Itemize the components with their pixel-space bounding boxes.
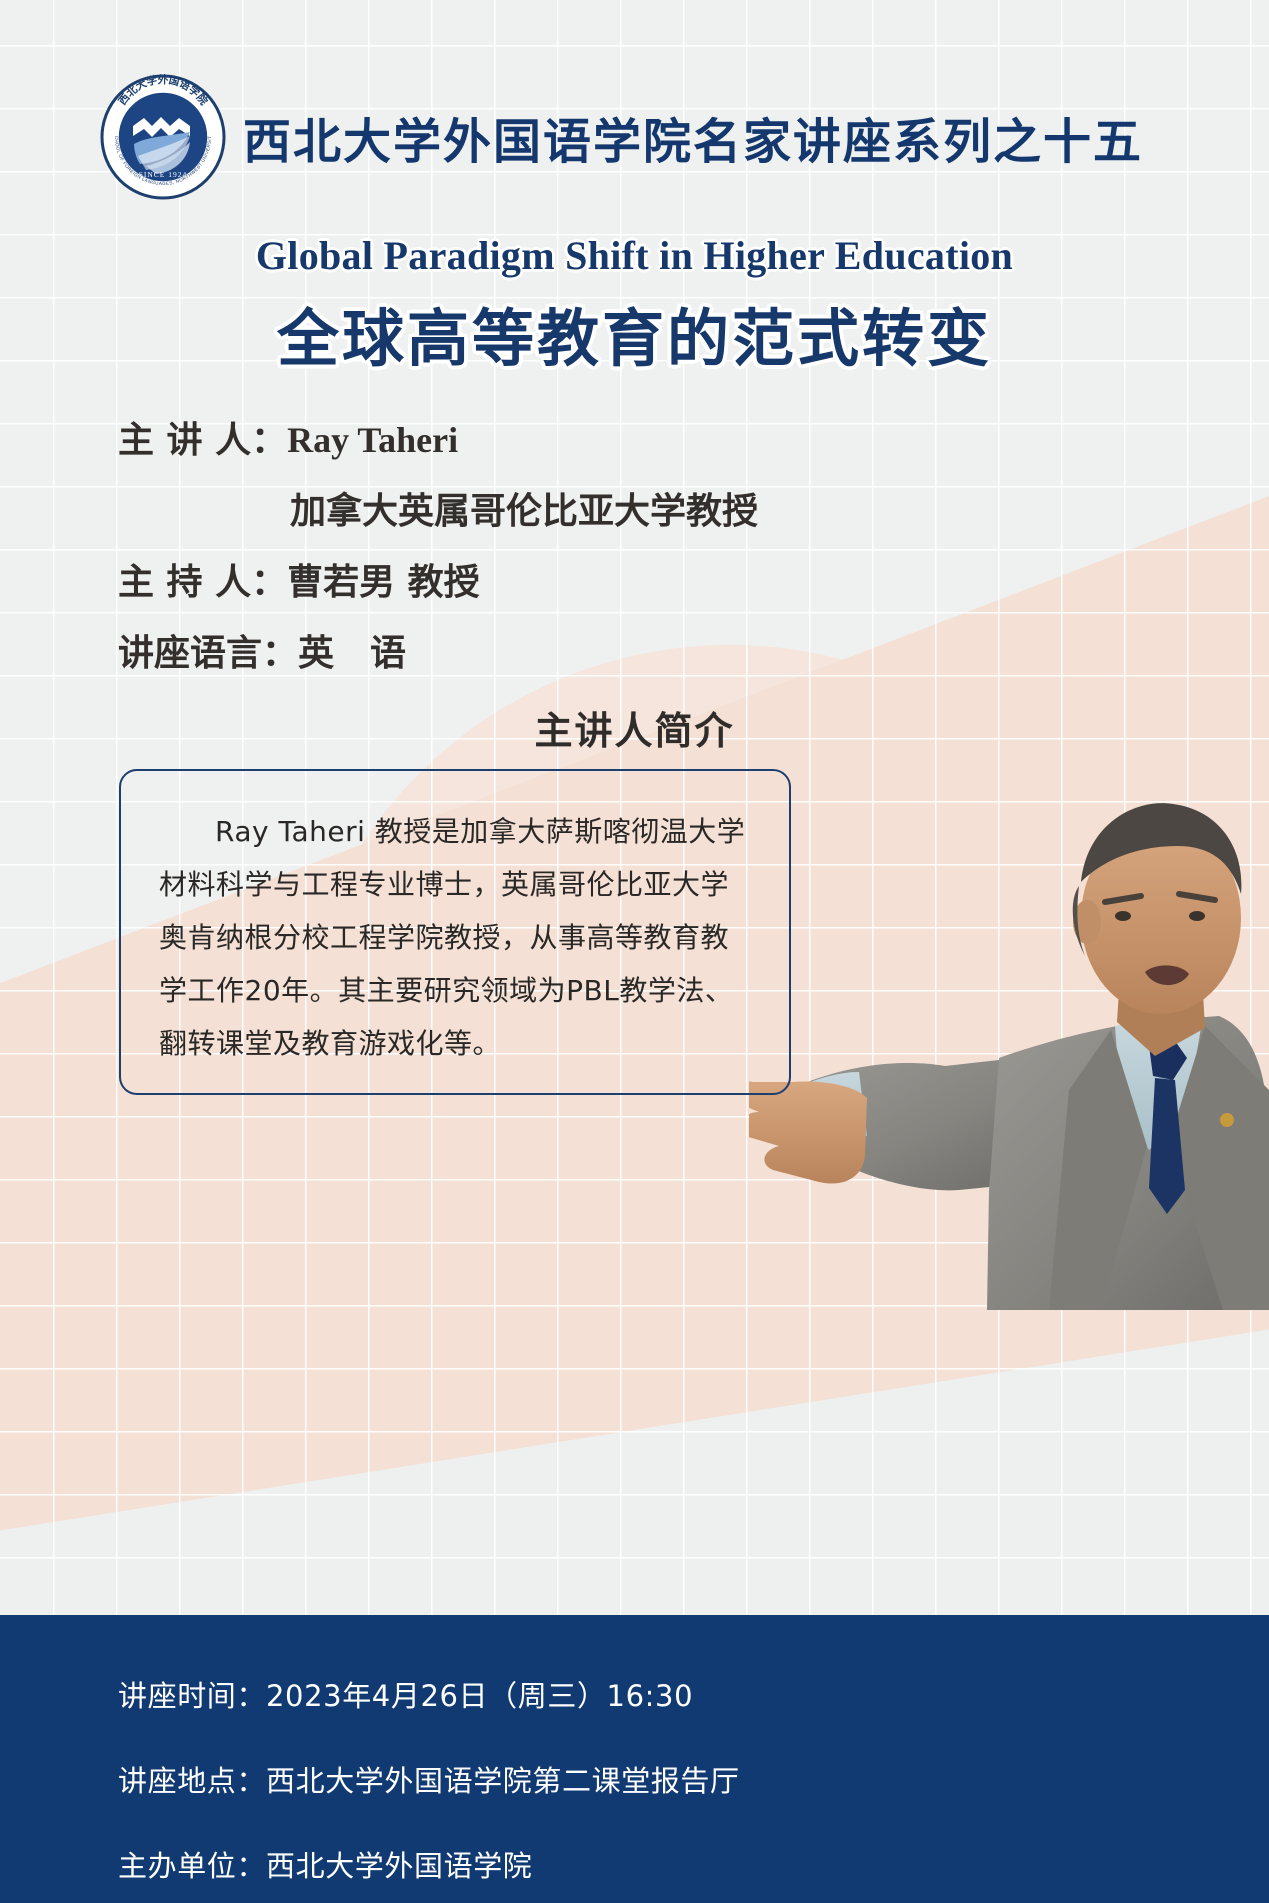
speaker-portrait-illustration <box>749 790 1269 1310</box>
speaker-portrait <box>749 790 1269 1310</box>
bio-section-heading: 主讲人简介 <box>0 700 1269 755</box>
university-logo-icon: SINCE 1924 西北大学外国语学院 SCHOOL OF FOREIGN L… <box>100 74 226 200</box>
speaker-row: 主 讲 人：Ray Taheri <box>118 418 1118 463</box>
footer-time: 讲座时间：2023年4月26日（周三）16:30 <box>118 1673 1269 1715</box>
lecture-info-block: 主 讲 人：Ray Taheri 加拿大英属哥伦比亚大学教授 主 持 人：曹若男… <box>118 418 1118 702</box>
lecture-title-english: Global Paradigm Shift in Higher Educatio… <box>0 232 1269 279</box>
language-value: 英 语 <box>298 633 406 674</box>
bio-paragraph: Ray Taheri 教授是加拿大萨斯喀彻温大学材料科学与工程专业博士，英属哥伦… <box>159 805 749 1070</box>
poster-series-title: 西北大学外国语学院名家讲座系列之十五 <box>243 102 1143 172</box>
speaker-label: 主 讲 人： <box>118 420 287 461</box>
footer-organizer: 主办单位：西北大学外国语学院 <box>118 1843 1269 1885</box>
host-label: 主 持 人： <box>118 562 287 603</box>
speaker-name: Ray Taheri <box>287 420 458 460</box>
bio-text-box: Ray Taheri 教授是加拿大萨斯喀彻温大学材料科学与工程专业博士，英属哥伦… <box>119 769 791 1095</box>
speaker-affiliation-row: 加拿大英属哥伦比亚大学教授 <box>118 489 1118 534</box>
host-name: 曹若男 教授 <box>287 562 480 603</box>
lecture-title-chinese: 全球高等教育的范式转变 <box>0 288 1269 378</box>
poster-canvas: SINCE 1924 西北大学外国语学院 SCHOOL OF FOREIGN L… <box>0 0 1269 1903</box>
language-row: 讲座语言：英 语 <box>118 631 1118 676</box>
poster-header: SINCE 1924 西北大学外国语学院 SCHOOL OF FOREIGN L… <box>0 72 1269 204</box>
host-row: 主 持 人：曹若男 教授 <box>118 560 1118 605</box>
footer-place: 讲座地点：西北大学外国语学院第二课堂报告厅 <box>118 1758 1269 1800</box>
poster-footer: 讲座时间：2023年4月26日（周三）16:30 讲座地点：西北大学外国语学院第… <box>0 1615 1269 1903</box>
language-label: 讲座语言： <box>118 633 298 674</box>
